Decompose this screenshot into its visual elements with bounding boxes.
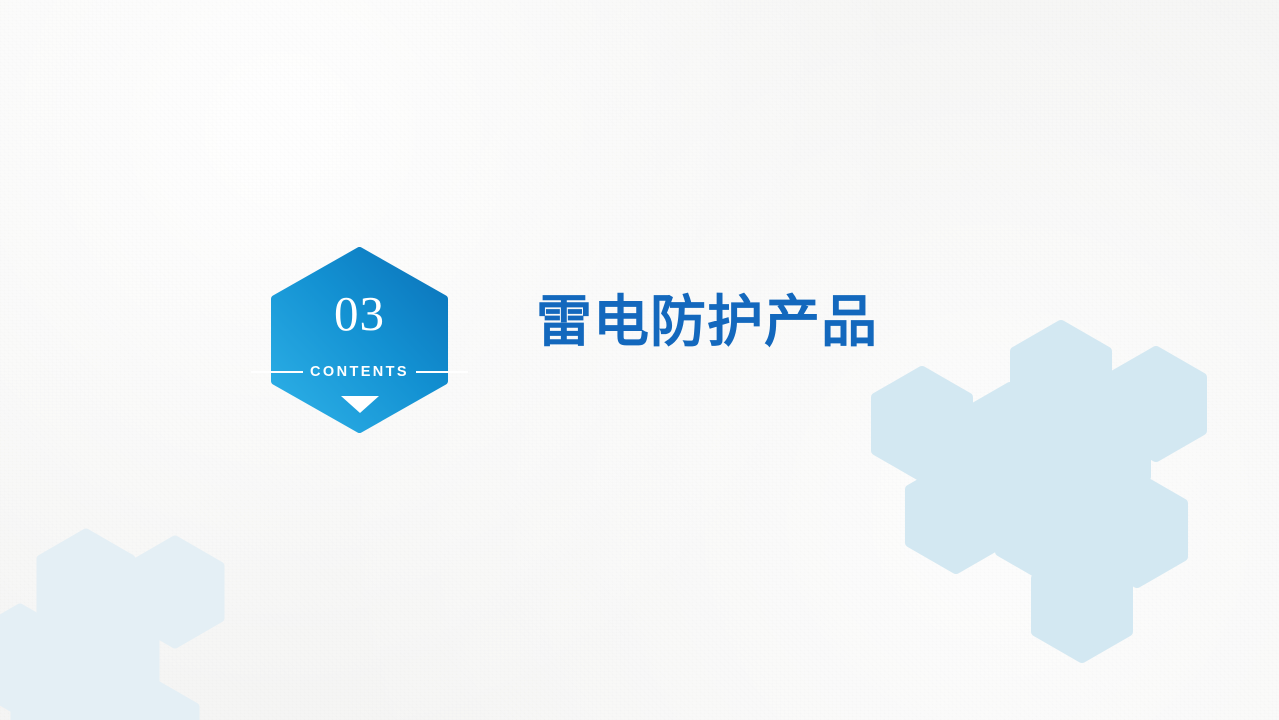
badge-number: 03 [334, 289, 385, 338]
slide-background [0, 0, 1279, 720]
badge-rule-right [416, 371, 468, 373]
badge-rule-left [251, 371, 303, 373]
triangle-down-icon [341, 396, 379, 413]
section-number-badge: 03 CONTENTS [271, 247, 448, 433]
section-title: 雷电防护产品 [536, 289, 878, 355]
slide-canvas: 03 CONTENTS 雷电防护产品 [0, 0, 1279, 720]
badge-contents-label: CONTENTS [310, 364, 409, 380]
badge-contents-row: CONTENTS [251, 364, 468, 380]
